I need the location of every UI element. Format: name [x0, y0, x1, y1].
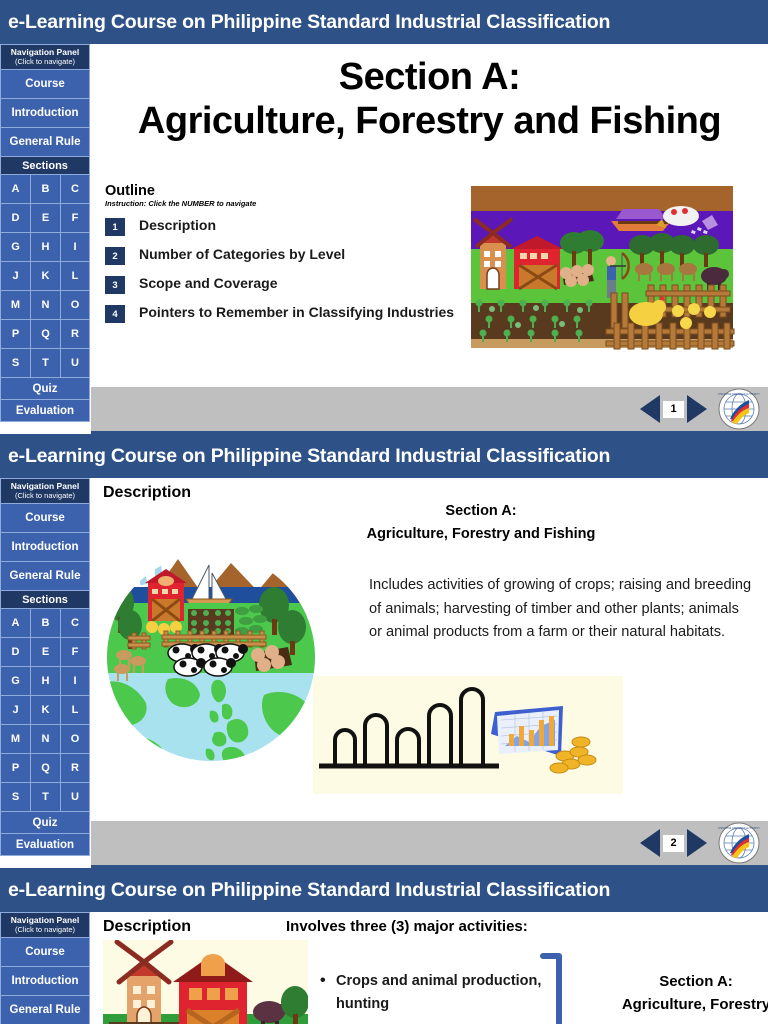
nav-panel-header-title: Navigation Panel	[1, 915, 89, 925]
bar-chart-graphic	[313, 676, 623, 794]
sidebar-section-m[interactable]: M	[0, 291, 30, 320]
sidebar-section-p[interactable]: P	[0, 754, 30, 783]
outline-item-2[interactable]: 2 Number of Categories by Level	[105, 245, 465, 265]
nav-panel-header: Navigation Panel (Click to navigate)	[0, 44, 90, 70]
letter-row: D E F	[0, 638, 90, 667]
letter-row: J K L	[0, 696, 90, 725]
course-title: e-Learning Course on Philippine Standard…	[8, 879, 610, 902]
sidebar-section-b[interactable]: B	[30, 609, 60, 638]
sidebar-section-t[interactable]: T	[30, 349, 60, 378]
sidebar-section-a[interactable]: A	[0, 175, 30, 204]
nav-panel-header: Navigation Panel (Click to navigate)	[0, 912, 90, 938]
outline-number-2[interactable]: 2	[105, 247, 125, 265]
previous-slide-icon[interactable]	[640, 395, 660, 423]
sidebar-item-introduction[interactable]: Introduction	[0, 533, 90, 562]
sidebar-sections-header: Sections	[0, 157, 90, 175]
outline-number-4[interactable]: 4	[105, 305, 125, 323]
letter-row: G H I	[0, 233, 90, 262]
slide-1-content: Section A: Agriculture, Forestry and Fis…	[91, 44, 768, 434]
section-heading-line1: Section A:	[271, 500, 691, 523]
nav-panel-header-title: Navigation Panel	[1, 481, 89, 491]
next-slide-icon[interactable]	[687, 829, 707, 857]
windmill-barn-graphic	[103, 940, 308, 1024]
sidebar-section-h[interactable]: H	[30, 233, 60, 262]
sidebar-item-evaluation[interactable]: Evaluation	[0, 400, 90, 422]
navigation-panel: Navigation Panel (Click to navigate) Cou…	[0, 44, 91, 434]
sidebar-item-course[interactable]: Course	[0, 938, 90, 967]
activity-bullet-1-label: Crops and animal production, hunting	[336, 973, 541, 1012]
slide-body: Navigation Panel (Click to navigate) Cou…	[0, 44, 768, 434]
sidebar-section-g[interactable]: G	[0, 667, 30, 696]
letter-row: P Q R	[0, 320, 90, 349]
sidebar-section-r[interactable]: R	[60, 754, 90, 783]
outline-instruction: Instruction: Click the NUMBER to navigat…	[105, 199, 465, 208]
outline-item-3[interactable]: 3 Scope and Coverage	[105, 274, 465, 294]
letter-row: G H I	[0, 667, 90, 696]
svg-text:PHILIPPINE STATISTICS AUTHORIT: PHILIPPINE STATISTICS AUTHORITY	[718, 393, 760, 396]
sidebar-section-h[interactable]: H	[30, 667, 60, 696]
sidebar-item-general-rule[interactable]: General Rule	[0, 996, 90, 1024]
outline-item-1[interactable]: 1 Description	[105, 216, 465, 236]
sidebar-section-f[interactable]: F	[60, 638, 90, 667]
sidebar-section-j[interactable]: J	[0, 262, 30, 291]
sidebar-section-b[interactable]: B	[30, 175, 60, 204]
sidebar-section-s[interactable]: S	[0, 349, 30, 378]
letter-row: S T U	[0, 349, 90, 378]
brace-icon	[539, 950, 565, 1024]
sidebar-section-d[interactable]: D	[0, 204, 30, 233]
sidebar-section-q[interactable]: Q	[30, 320, 60, 349]
letter-row: A B C	[0, 609, 90, 638]
slide-1-title-line1: Section A:	[339, 56, 521, 98]
involves-heading: Involves three (3) major activities:	[286, 918, 528, 935]
slide-1: e-Learning Course on Philippine Standard…	[0, 0, 768, 434]
sidebar-sections-header: Sections	[0, 591, 90, 609]
farm-scene-illustration	[466, 181, 738, 353]
bullet-icon: •	[320, 969, 326, 992]
slide-header: e-Learning Course on Philippine Standard…	[0, 868, 768, 912]
sidebar-section-r[interactable]: R	[60, 320, 90, 349]
course-title: e-Learning Course on Philippine Standard…	[8, 11, 610, 34]
sidebar-section-t[interactable]: T	[30, 783, 60, 812]
sidebar-section-p[interactable]: P	[0, 320, 30, 349]
letter-row: S T U	[0, 783, 90, 812]
outline-label-1: Description	[139, 216, 216, 235]
letter-row: A B C	[0, 175, 90, 204]
sidebar-section-n[interactable]: N	[30, 725, 60, 754]
outline-number-3[interactable]: 3	[105, 276, 125, 294]
sidebar-section-n[interactable]: N	[30, 291, 60, 320]
section-heading-line1: Section A:	[581, 970, 768, 993]
slide-2-content: Description Section A: Agriculture, Fore…	[91, 478, 768, 868]
page-title: Description	[103, 484, 191, 502]
letter-row: P Q R	[0, 754, 90, 783]
previous-slide-icon[interactable]	[640, 829, 660, 857]
sidebar-section-d[interactable]: D	[0, 638, 30, 667]
globe-philippines-farm-illustration	[106, 543, 316, 771]
nav-panel-header-title: Navigation Panel	[1, 47, 89, 57]
letter-row: D E F	[0, 204, 90, 233]
page-title: Description	[103, 918, 191, 936]
bar-chart-monitor-coins-illustration	[313, 676, 623, 794]
sidebar-item-introduction[interactable]: Introduction	[0, 99, 90, 128]
sidebar-section-j[interactable]: J	[0, 696, 30, 725]
sidebar-section-c[interactable]: C	[60, 609, 90, 638]
course-title: e-Learning Course on Philippine Standard…	[8, 445, 610, 468]
section-heading-line2: Agriculture, Forestry and Fishing	[271, 523, 691, 546]
nav-panel-header-subtitle: (Click to navigate)	[1, 57, 89, 66]
sidebar-section-f[interactable]: F	[60, 204, 90, 233]
slide-body: Navigation Panel (Click to navigate) Cou…	[0, 912, 768, 1024]
next-slide-icon[interactable]	[687, 395, 707, 423]
sidebar-section-e[interactable]: E	[30, 204, 60, 233]
outline-label-4: Pointers to Remember in Classifying Indu…	[139, 303, 454, 322]
outline-item-4[interactable]: 4 Pointers to Remember in Classifying In…	[105, 303, 465, 323]
sidebar-item-evaluation[interactable]: Evaluation	[0, 834, 90, 856]
slide-2-footer: 2 PHILIPPINE STATISTICS AUTHORITY	[91, 821, 768, 868]
navigation-panel: Navigation Panel (Click to navigate) Cou…	[0, 912, 91, 1024]
slide-number: 1	[663, 401, 684, 418]
sidebar-section-e[interactable]: E	[30, 638, 60, 667]
slide-3-content: Description Involves three (3) major act…	[91, 912, 768, 1024]
navigation-panel: Navigation Panel (Click to navigate) Cou…	[0, 478, 91, 868]
slide-2: e-Learning Course on Philippine Standard…	[0, 434, 768, 868]
windmill-barn-illustration	[103, 940, 308, 1024]
description-paragraph: Includes activities of growing of crops;…	[369, 574, 754, 645]
sidebar-section-q[interactable]: Q	[30, 754, 60, 783]
outline-label-2: Number of Categories by Level	[139, 245, 345, 264]
sidebar-section-o[interactable]: O	[60, 291, 90, 320]
sidebar-section-a[interactable]: A	[0, 609, 30, 638]
sidebar-section-g[interactable]: G	[0, 233, 30, 262]
section-heading: Section A: Agriculture, Forestry and Fis…	[271, 500, 691, 546]
sidebar-section-i[interactable]: I	[60, 667, 90, 696]
sidebar-item-quiz[interactable]: Quiz	[0, 812, 90, 834]
sidebar-section-l[interactable]: L	[60, 696, 90, 725]
slide-1-footer: 1 PHILIPPINE STATISTICS AUTHORITY	[91, 387, 768, 434]
slide-header: e-Learning Course on Philippine Standard…	[0, 0, 768, 44]
sidebar-section-c[interactable]: C	[60, 175, 90, 204]
section-heading: Section A: Agriculture, Forestry	[581, 970, 768, 1016]
nav-panel-header: Navigation Panel (Click to navigate)	[0, 478, 90, 504]
sidebar-section-l[interactable]: L	[60, 262, 90, 291]
sidebar-item-quiz[interactable]: Quiz	[0, 378, 90, 400]
outline-heading: Outline	[105, 184, 465, 199]
letter-row: M N O	[0, 291, 90, 320]
slide-header: e-Learning Course on Philippine Standard…	[0, 434, 768, 478]
slide-body: Navigation Panel (Click to navigate) Cou…	[0, 478, 768, 868]
psa-logo-icon: PHILIPPINE STATISTICS AUTHORITY	[718, 388, 760, 430]
slide-3: e-Learning Course on Philippine Standard…	[0, 868, 768, 1024]
nav-panel-header-subtitle: (Click to navigate)	[1, 925, 89, 934]
sidebar-item-introduction[interactable]: Introduction	[0, 967, 90, 996]
sidebar-section-k[interactable]: K	[30, 262, 60, 291]
slide-1-title: Section A: Agriculture, Forestry and Fis…	[91, 44, 768, 140]
outline-number-1[interactable]: 1	[105, 218, 125, 236]
svg-text:PHILIPPINE STATISTICS AUTHORIT: PHILIPPINE STATISTICS AUTHORITY	[718, 827, 760, 830]
slide-number: 2	[663, 835, 684, 852]
sidebar-section-m[interactable]: M	[0, 725, 30, 754]
outline-label-3: Scope and Coverage	[139, 274, 278, 293]
psa-logo-icon: PHILIPPINE STATISTICS AUTHORITY	[718, 822, 760, 864]
letter-row: M N O	[0, 725, 90, 754]
sidebar-section-o[interactable]: O	[60, 725, 90, 754]
sidebar-item-course[interactable]: Course	[0, 504, 90, 533]
outline-block: Outline Instruction: Click the NUMBER to…	[105, 184, 465, 332]
sidebar-item-general-rule[interactable]: General Rule	[0, 128, 90, 157]
section-heading-line2: Agriculture, Forestry	[581, 993, 768, 1016]
letter-row: J K L	[0, 262, 90, 291]
sidebar-section-u[interactable]: U	[60, 783, 90, 812]
sidebar-section-s[interactable]: S	[0, 783, 30, 812]
slide-1-title-line2: Agriculture, Forestry and Fishing	[91, 102, 768, 140]
activity-bullet-1: • Crops and animal production, hunting	[336, 970, 546, 1016]
sidebar-section-i[interactable]: I	[60, 233, 90, 262]
sidebar-section-u[interactable]: U	[60, 349, 90, 378]
sidebar-section-k[interactable]: K	[30, 696, 60, 725]
nav-panel-header-subtitle: (Click to navigate)	[1, 491, 89, 500]
sidebar-item-course[interactable]: Course	[0, 70, 90, 99]
sidebar-item-general-rule[interactable]: General Rule	[0, 562, 90, 591]
